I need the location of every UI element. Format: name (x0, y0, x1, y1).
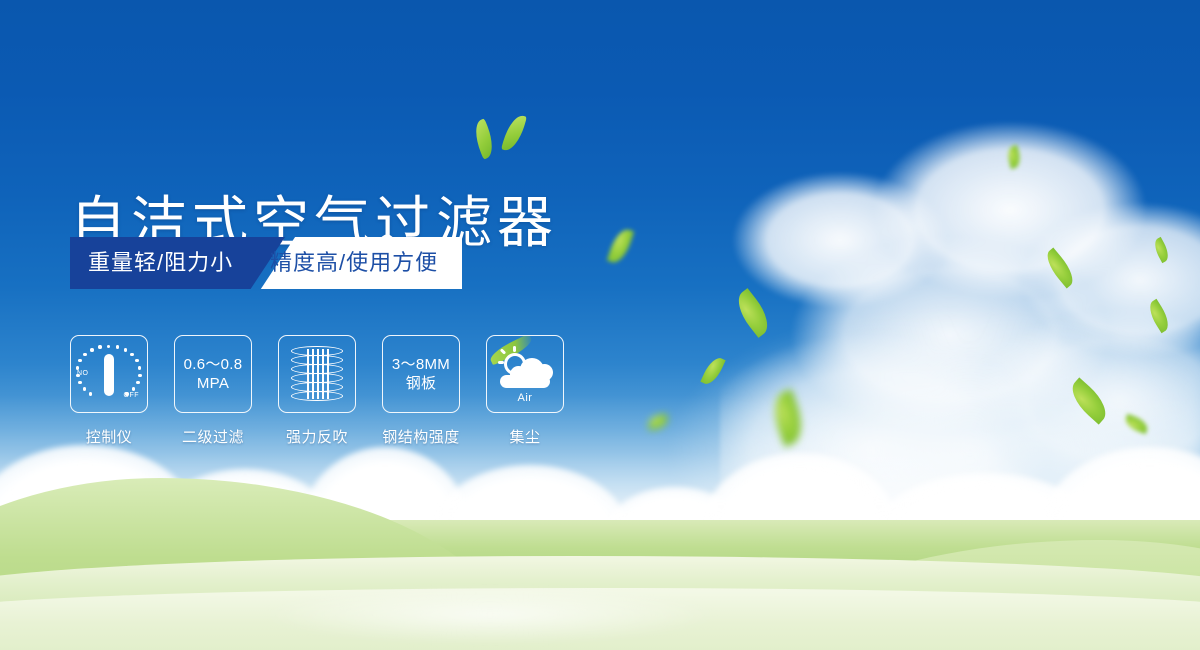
feature-icon-box: 3～8MM 钢板 (382, 335, 460, 413)
feature-item-dust-collection[interactable]: Air 集尘 (486, 335, 564, 447)
feature-icon-box (278, 335, 356, 413)
feature-item-secondary-filter[interactable]: 0.6～0.8 MPA 二级过滤 (174, 335, 252, 447)
product-hero-banner: 自洁式空气过滤器 重量轻/阻力小 精度高/使用方便 (0, 0, 1200, 650)
steel-plate-text-icon: 3～8MM 钢板 (392, 355, 450, 393)
pressure-text-icon: 0.6～0.8 MPA (184, 355, 243, 393)
subtitle-left-text: 重量轻/阻力小 (88, 237, 233, 289)
cloud-air-icon: Air (494, 345, 556, 403)
dial-gauge-icon: NO OFF (78, 343, 140, 405)
feature-item-backblow[interactable]: 强力反吹 (278, 335, 356, 447)
feature-label: 强力反吹 (286, 426, 348, 447)
feature-label: 二级过滤 (182, 426, 244, 447)
floating-leaf (607, 226, 634, 265)
subtitle-right-text: 精度高/使用方便 (270, 237, 438, 289)
feature-icon-box: 0.6～0.8 MPA (174, 335, 252, 413)
air-label: Air (494, 392, 556, 404)
feature-label: 钢结构强度 (382, 426, 460, 447)
steel-material: 钢板 (392, 374, 450, 393)
sprout-leaf-right-icon (501, 113, 527, 154)
meadow-light-sheen (180, 575, 800, 650)
feature-label: 控制仪 (86, 426, 133, 447)
sprout-leaf-left-icon (469, 118, 498, 159)
filter-stack-icon (291, 346, 343, 402)
feature-icon-box: Air (486, 335, 564, 413)
feature-icon-box: NO OFF (70, 335, 148, 413)
feature-list: NO OFF 控制仪 0.6～0.8 MPA 二级过滤 (70, 335, 564, 447)
feature-item-steel-strength[interactable]: 3～8MM 钢板 钢结构强度 (382, 335, 460, 447)
feature-label: 集尘 (509, 426, 540, 447)
dial-label-off: OFF (124, 392, 140, 399)
pressure-value: 0.6～0.8 (184, 355, 243, 374)
feature-item-controller[interactable]: NO OFF 控制仪 (70, 335, 148, 447)
leaf-sprouts-decoration (474, 110, 536, 162)
pressure-unit: MPA (184, 374, 243, 393)
subtitle-bar: 重量轻/阻力小 精度高/使用方便 (70, 237, 462, 289)
dial-label-no: NO (77, 370, 89, 377)
steel-thickness: 3～8MM (392, 355, 450, 374)
